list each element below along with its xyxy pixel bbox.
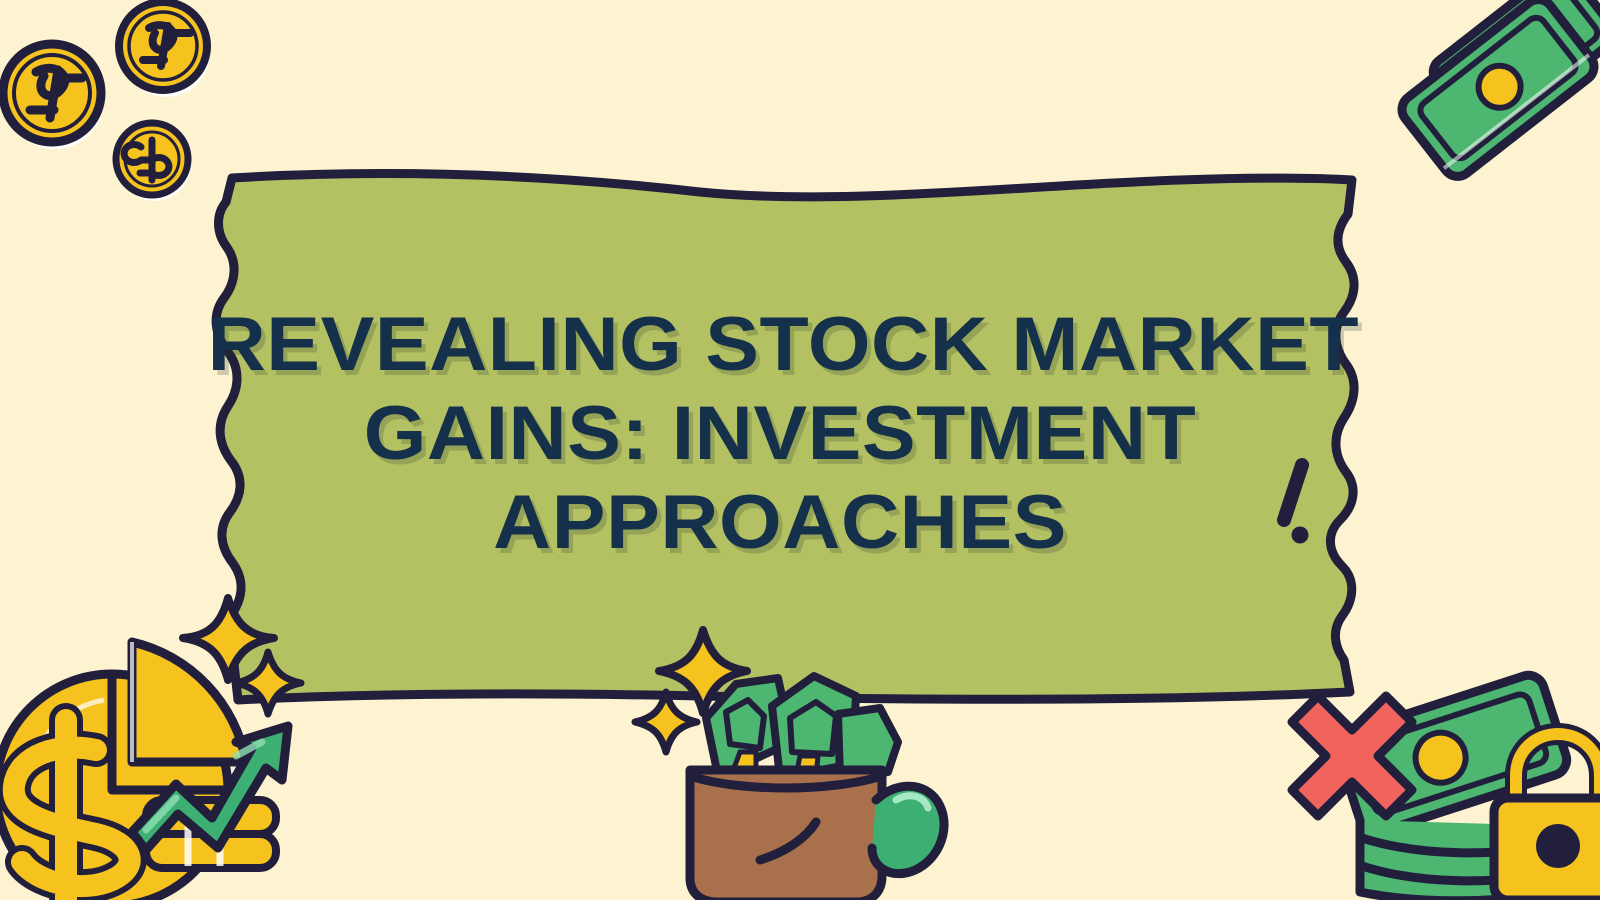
wallet-with-cash-illustration — [690, 676, 944, 900]
decorations-bottom-layer — [0, 0, 1600, 900]
sparkle-banner-left-small — [236, 652, 301, 714]
wallet-cash — [706, 676, 898, 778]
sparkle-wallet-small — [635, 692, 697, 752]
slide-canvas: REVEALING STOCK MARKET GAINS: INVESTMENT… — [0, 0, 1600, 900]
